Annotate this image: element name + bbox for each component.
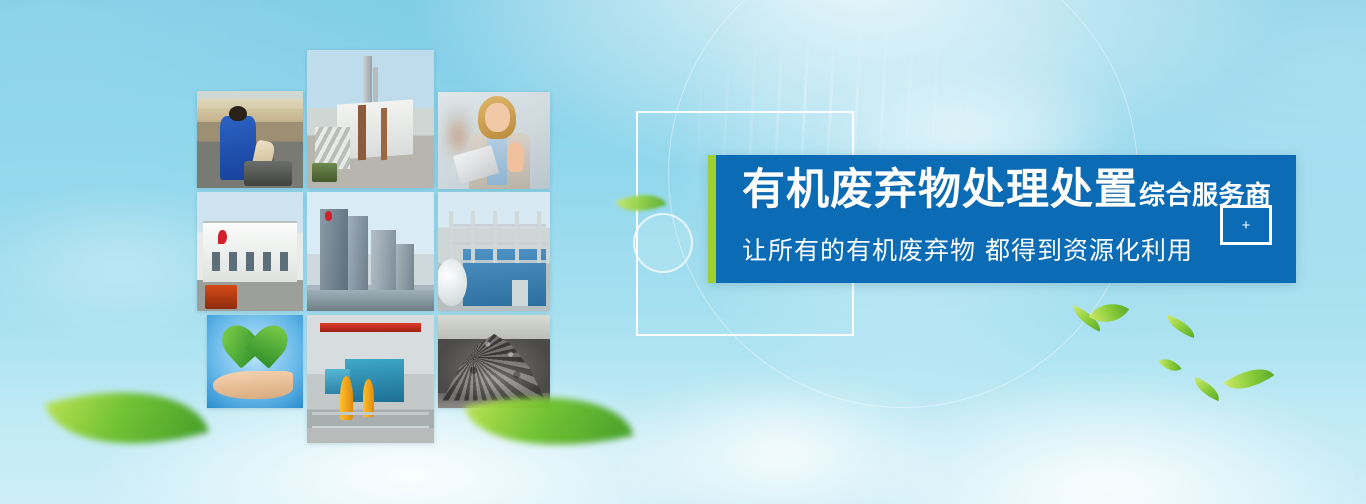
leaf-right-3-icon	[1164, 315, 1199, 338]
photo-mosaic	[197, 60, 553, 440]
photo-detail-steel-frame	[449, 211, 545, 263]
photo-detail-face	[485, 103, 510, 132]
cloud-bottom-right	[726, 324, 1366, 504]
banner-headline: 有机废弃物处理处置 综合服务商	[742, 169, 1296, 212]
photo-detail-leaf-heart	[224, 324, 285, 371]
banner-accent-bar	[708, 155, 716, 283]
photo-detail-window	[229, 252, 237, 271]
cloud-bottom-center	[520, 334, 1040, 504]
headline-main-text: 有机废弃物处理处置	[742, 169, 1138, 212]
photo-detail-window	[263, 252, 271, 271]
leaf-right-6-icon	[1224, 357, 1274, 401]
photo-detail-tower	[371, 230, 396, 292]
photo-image	[197, 91, 303, 188]
leaf-right-2-icon	[1089, 293, 1129, 333]
banner-stage: 有机废弃物处理处置 综合服务商 让所有的有机废弃物 都得到资源化利用 +	[0, 0, 1366, 504]
photo-image	[438, 315, 550, 408]
photo-image	[207, 315, 303, 408]
small-circle-decoration	[633, 213, 693, 273]
photo-image	[307, 192, 434, 311]
photo-detail-window	[246, 252, 254, 271]
photo-detail-ground	[307, 290, 434, 311]
photo-detail-tower	[396, 244, 414, 292]
banner-subline: 让所有的有机废弃物 都得到资源化利用	[742, 231, 1296, 267]
photo-image	[438, 192, 550, 311]
photo-detail-bin	[244, 161, 293, 186]
photo-detail-hand	[213, 371, 294, 399]
photo-detail-chimney-secondary	[373, 67, 378, 106]
leaf-right-4-icon	[1158, 353, 1181, 377]
photo-image	[438, 92, 550, 189]
photo-detail-worker-head	[229, 106, 247, 122]
photo-city-towers[interactable]	[307, 192, 434, 311]
photo-compost-gravel-heap[interactable]	[438, 315, 550, 408]
photo-steel-plant-structure[interactable]	[438, 192, 550, 311]
photo-detail-tower	[348, 216, 368, 292]
plus-button[interactable]: +	[1220, 205, 1272, 245]
photo-detail-column-b	[381, 108, 387, 161]
leaf-near-frame-icon	[616, 184, 667, 222]
photo-detail-chimney	[363, 56, 372, 106]
photo-image	[197, 192, 303, 311]
photo-detail-truck	[312, 163, 337, 182]
photo-detail-machine	[345, 359, 403, 403]
leaf-left-bottom-large-icon	[45, 363, 209, 474]
leaf-right-5-icon	[1190, 377, 1223, 401]
photo-businesswoman-thumbs-up[interactable]	[438, 92, 550, 189]
photo-detail-window	[280, 252, 288, 271]
photo-detail-thumb	[507, 142, 524, 171]
photo-image	[307, 315, 434, 443]
photo-detail-tower	[320, 209, 348, 292]
photo-detail-truck	[205, 285, 237, 309]
photo-worker-feeding-waste[interactable]	[197, 91, 303, 188]
photo-white-factory-building[interactable]	[197, 192, 303, 311]
photo-detail-floor	[307, 428, 434, 443]
photo-image	[307, 50, 434, 188]
photo-industrial-plant-chimney[interactable]	[307, 50, 434, 188]
photo-detail-door	[512, 280, 528, 306]
photo-detail-crane-beam	[320, 323, 422, 332]
photo-workshop-machinery[interactable]	[307, 315, 434, 443]
photo-detail-window	[212, 252, 220, 271]
photo-detail-logo	[218, 230, 226, 244]
banner-body: 有机废弃物处理处置 综合服务商 让所有的有机废弃物 都得到资源化利用 +	[716, 155, 1296, 283]
headline-banner: 有机废弃物处理处置 综合服务商 让所有的有机废弃物 都得到资源化利用 +	[708, 155, 1296, 283]
photo-detail-railing	[312, 412, 429, 415]
photo-hand-holding-leaf-heart[interactable]	[207, 315, 303, 408]
photo-detail-logo	[325, 211, 333, 221]
photo-detail-column-a	[358, 105, 366, 161]
leaf-right-1-icon	[1069, 305, 1105, 332]
